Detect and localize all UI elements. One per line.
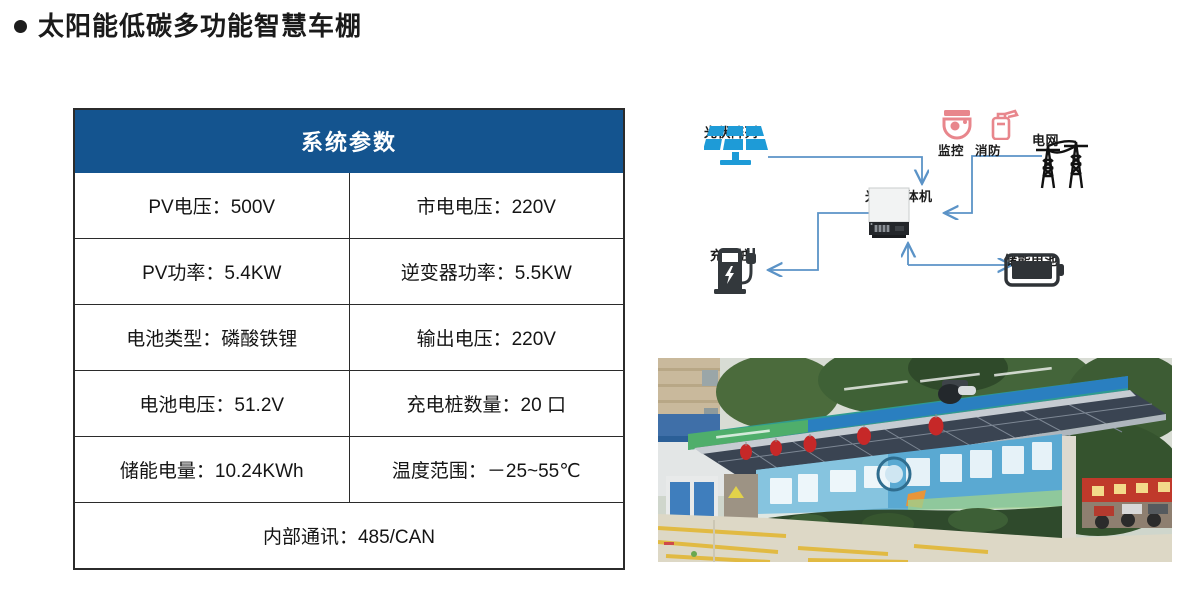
table-row: PV电压：500V 市电电压：220V xyxy=(74,173,624,239)
carport-photo-illustration xyxy=(658,358,1172,562)
cell-storage-capacity: 储能电量：10.24KWh xyxy=(74,437,349,503)
diagram-node-pv: 光伏阵列 xyxy=(704,122,758,140)
table-row: 储能电量：10.24KWh 温度范围：－25~55℃ xyxy=(74,437,624,503)
cell-temperature-range: 温度范围：－25~55℃ xyxy=(349,437,624,503)
page-title-text: 太阳能低碳多功能智慧车棚 xyxy=(38,13,362,39)
table-row: 电池电压：51.2V 充电桩数量：20 口 xyxy=(74,371,624,437)
cell-output-voltage: 输出电压：220V xyxy=(349,305,624,371)
solar-carport-photo xyxy=(658,358,1172,562)
cell-battery-voltage: 电池电压：51.2V xyxy=(74,371,349,437)
diagram-label-fire: 消防 xyxy=(975,145,1001,159)
table-row: 内部通讯：485/CAN xyxy=(74,503,624,570)
diagram-node-inverter: 光储一体机 xyxy=(865,186,933,204)
diagram-pair-labels: 监控 消防 xyxy=(938,145,1001,159)
flow-grid-to-inverter xyxy=(946,156,1042,213)
cell-inverter-power: 逆变器功率：5.5KW xyxy=(349,239,624,305)
diagram-node-grid: 电网 xyxy=(1032,130,1059,148)
cell-pv-power: PV功率：5.4KW xyxy=(74,239,349,305)
system-flow-diagram: 光伏阵列 xyxy=(650,100,1190,350)
system-parameters-table: 系统参数 PV电压：500V 市电电压：220V PV功率：5.4KW 逆变器功… xyxy=(73,108,625,570)
diagram-node-battery: 储能电池 xyxy=(1004,250,1058,268)
cell-internal-comm: 内部通讯：485/CAN xyxy=(74,503,624,570)
cell-grid-voltage: 市电电压：220V xyxy=(349,173,624,239)
cell-charger-count: 充电桩数量：20 口 xyxy=(349,371,624,437)
page-title: 太阳能低碳多功能智慧车棚 xyxy=(14,13,362,39)
diagram-label-monitor: 监控 xyxy=(938,145,964,159)
cell-pv-voltage: PV电压：500V xyxy=(74,173,349,239)
bullet-icon xyxy=(14,20,27,33)
flow-pv-to-inverter xyxy=(768,157,922,182)
cell-battery-type: 电池类型：磷酸铁锂 xyxy=(74,305,349,371)
table-header-cell: 系统参数 xyxy=(74,109,624,173)
table-row: 电池类型：磷酸铁锂 输出电压：220V xyxy=(74,305,624,371)
table-header-row: 系统参数 xyxy=(74,109,624,173)
table-row: PV功率：5.4KW 逆变器功率：5.5KW xyxy=(74,239,624,305)
diagram-node-charger: 充电桩 xyxy=(710,245,751,263)
